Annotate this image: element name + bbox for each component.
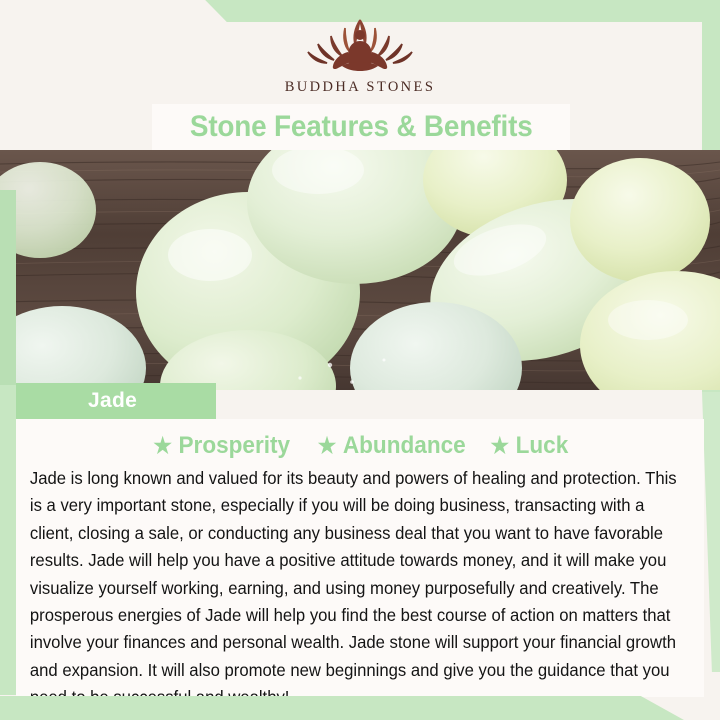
content-panel: ★ Prosperity ★ Abundance ★ Luck Jade is … [16,419,704,697]
left-green-band [0,385,16,695]
brand-logo: BUDDHA STONES [0,14,720,106]
benefit-prosperity: ★ Prosperity [145,432,299,460]
lotus-meditation-icon [298,14,422,76]
page-title: Stone Features & Benefits [190,110,533,144]
infographic-page: BUDDHA STONES Stone Features & Benefits [0,0,720,720]
benefits-row: ★ Prosperity ★ Abundance ★ Luck [26,431,694,461]
left-photo-green-strip [0,190,16,390]
stone-name: Jade [88,389,137,413]
title-panel: Stone Features & Benefits [152,104,570,150]
jade-stones-image [0,150,720,390]
brand-name: BUDDHA STONES [285,79,436,96]
benefit-label: Prosperity [179,432,291,460]
benefit-luck: ★ Luck [482,432,577,460]
benefit-label: Luck [516,432,569,460]
stone-name-band: Jade [16,383,216,419]
benefit-abundance: ★ Abundance [309,432,474,460]
bottom-green-band [0,696,720,720]
stone-photo [0,150,720,390]
star-icon: ★ [154,435,173,457]
benefit-label: Abundance [342,432,465,460]
right-lower-green-band [702,392,720,672]
star-icon: ★ [491,435,510,457]
star-icon: ★ [317,435,336,457]
stone-description: Jade is long known and valued for its be… [26,465,690,712]
